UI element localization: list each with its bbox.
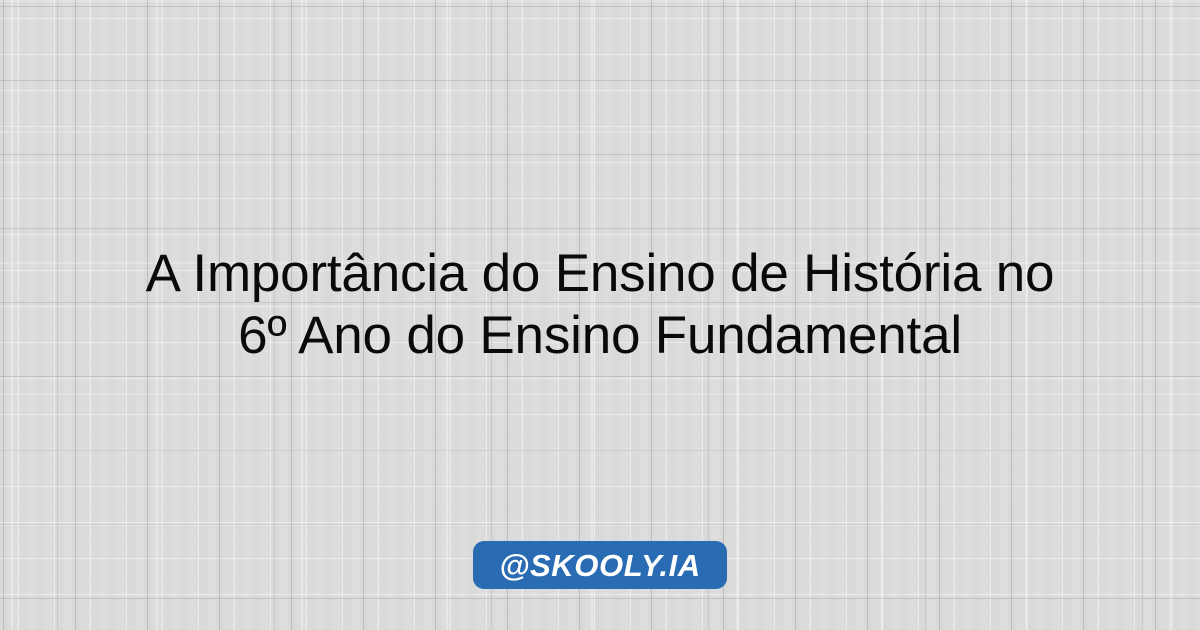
- share-card: A Importância do Ensino de História no 6…: [0, 0, 1200, 630]
- card-content: A Importância do Ensino de História no 6…: [0, 0, 1200, 630]
- headline-block: A Importância do Ensino de História no 6…: [0, 243, 1200, 367]
- badge-row: @SKOOLY.IA: [0, 541, 1200, 589]
- handle-badge[interactable]: @SKOOLY.IA: [473, 541, 727, 589]
- page-title: A Importância do Ensino de História no 6…: [14, 243, 1186, 367]
- handle-badge-label: @SKOOLY.IA: [499, 550, 701, 581]
